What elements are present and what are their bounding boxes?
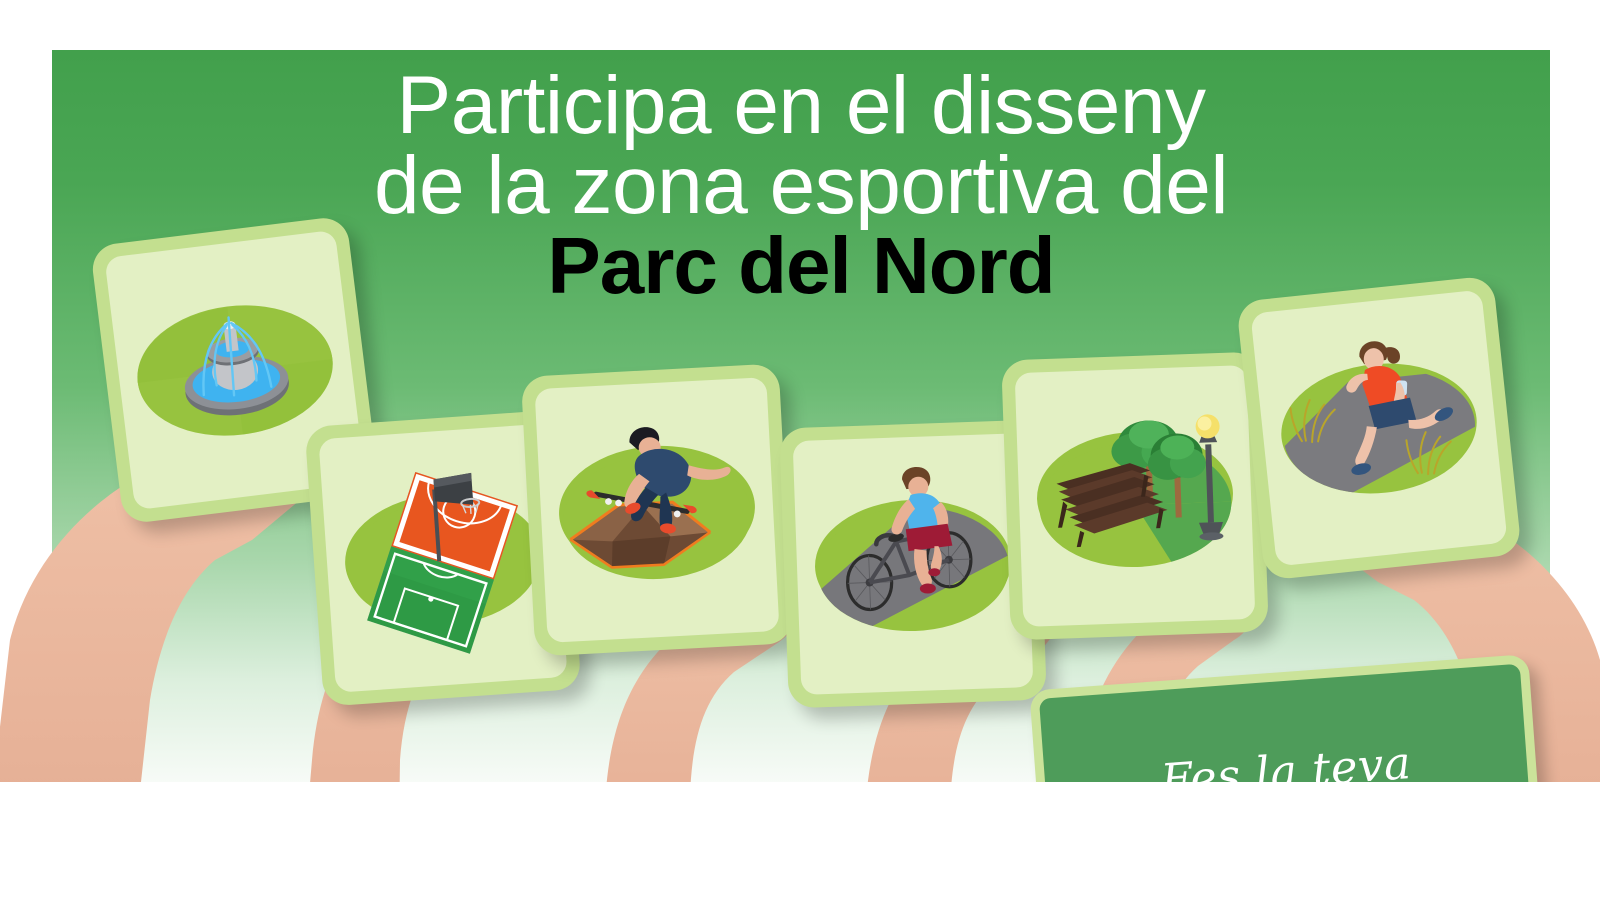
bike-illustration [793, 433, 1034, 695]
card-running-path[interactable] [1236, 275, 1522, 580]
poster-canvas: Participa en el disseny de la zona espor… [0, 0, 1600, 900]
card-bench-lamppost[interactable] [1001, 352, 1269, 641]
card-skate-ramp-face [535, 377, 780, 643]
card-bike-path-face [793, 433, 1034, 695]
card-skate-ramp[interactable] [521, 363, 793, 656]
running-illustration [1250, 290, 1507, 567]
footer-logo-bar: Ajuntament de Sabadell Hi col·labora: Di… [0, 782, 1600, 900]
bench-illustration [1015, 365, 1256, 627]
card-bench-lamppost-face [1015, 365, 1256, 627]
skate-illustration [535, 377, 780, 643]
card-running-path-face [1250, 290, 1507, 567]
